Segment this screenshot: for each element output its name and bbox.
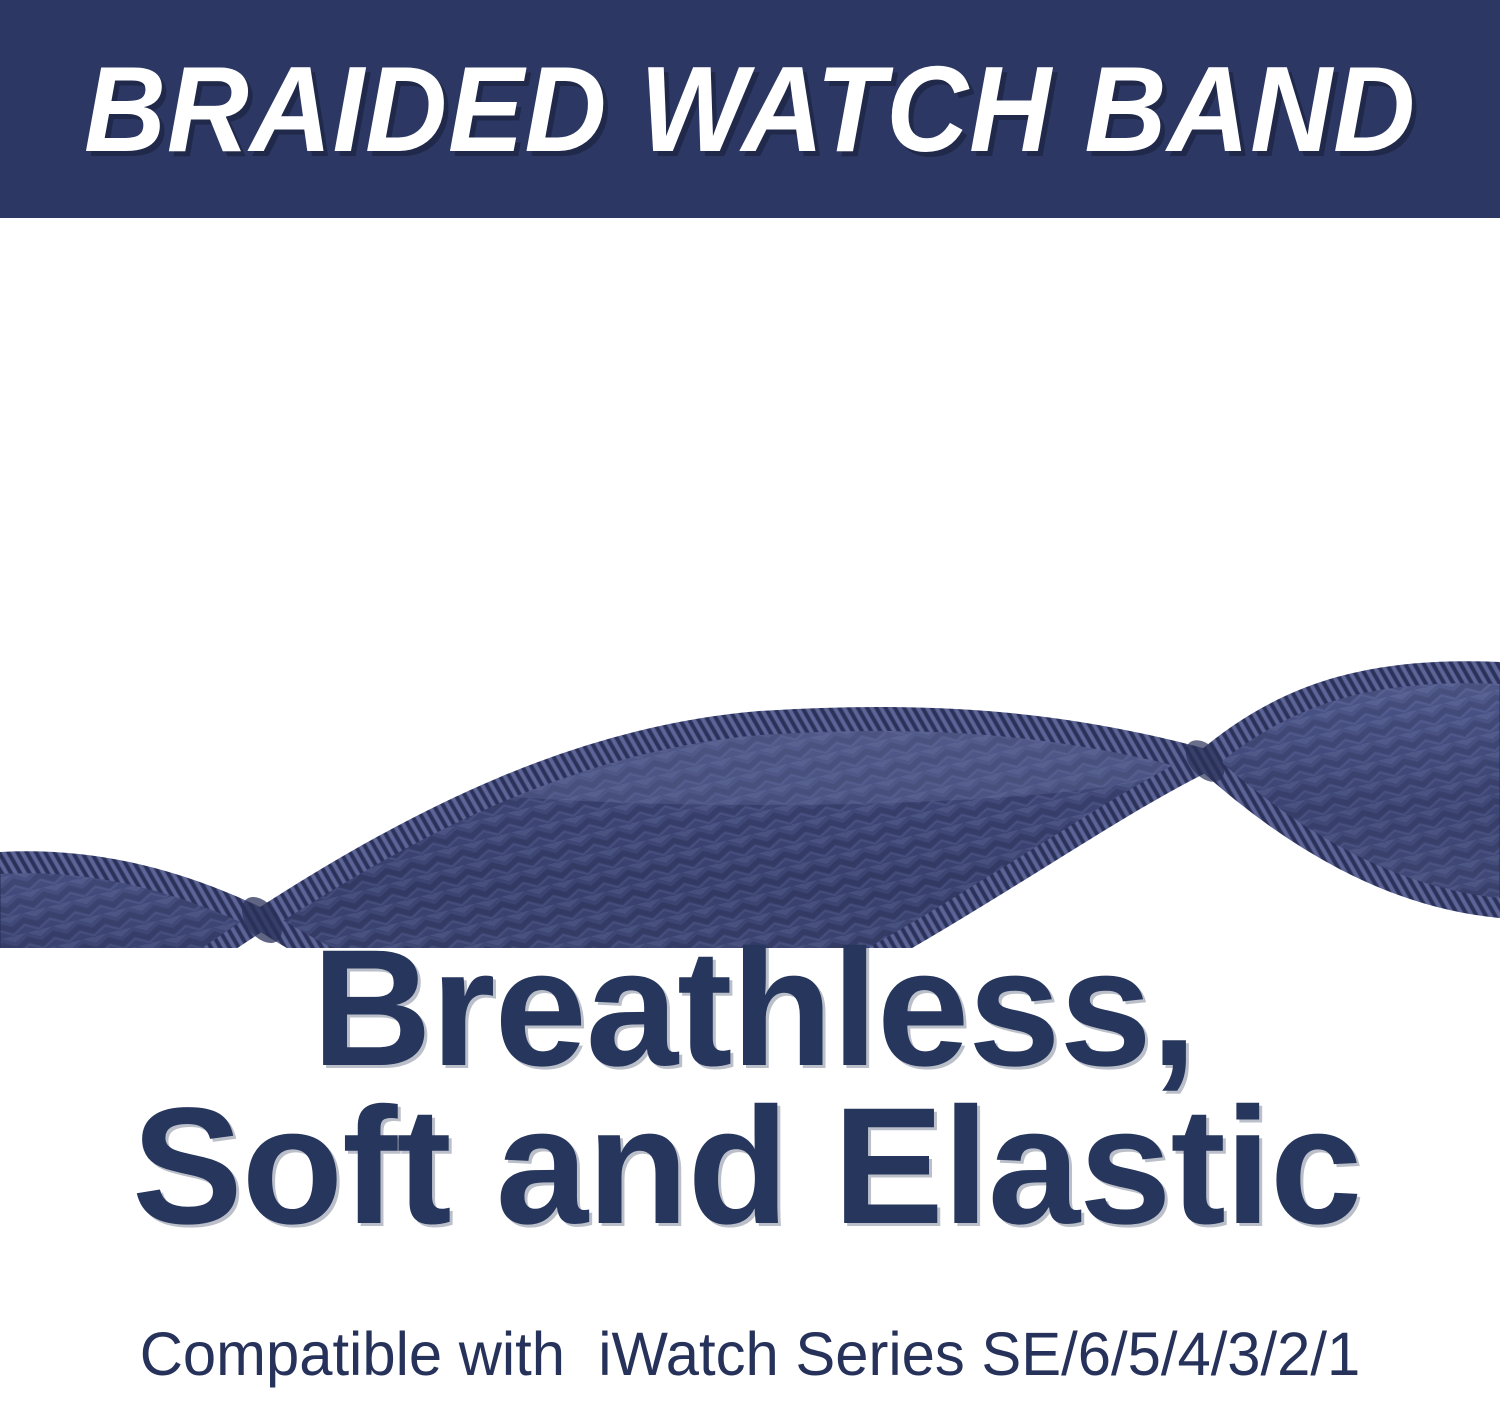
header-banner: BRAIDED WATCH BAND <box>0 0 1500 218</box>
header-title: BRAIDED WATCH BAND <box>53 0 1448 218</box>
braided-band-illustration <box>0 218 1500 948</box>
product-band-image <box>0 218 1500 948</box>
headline: Breathless, Soft and Elastic <box>0 930 1500 1246</box>
headline-line-1: Breathless, <box>0 930 1500 1088</box>
product-marketing-image: BRAIDED WATCH BAND <box>0 0 1500 1408</box>
compatibility-subtitle: Compatible with iWatch Series SE/6/5/4/3… <box>15 1318 1485 1390</box>
headline-line-2: Soft and Elastic <box>0 1088 1500 1246</box>
